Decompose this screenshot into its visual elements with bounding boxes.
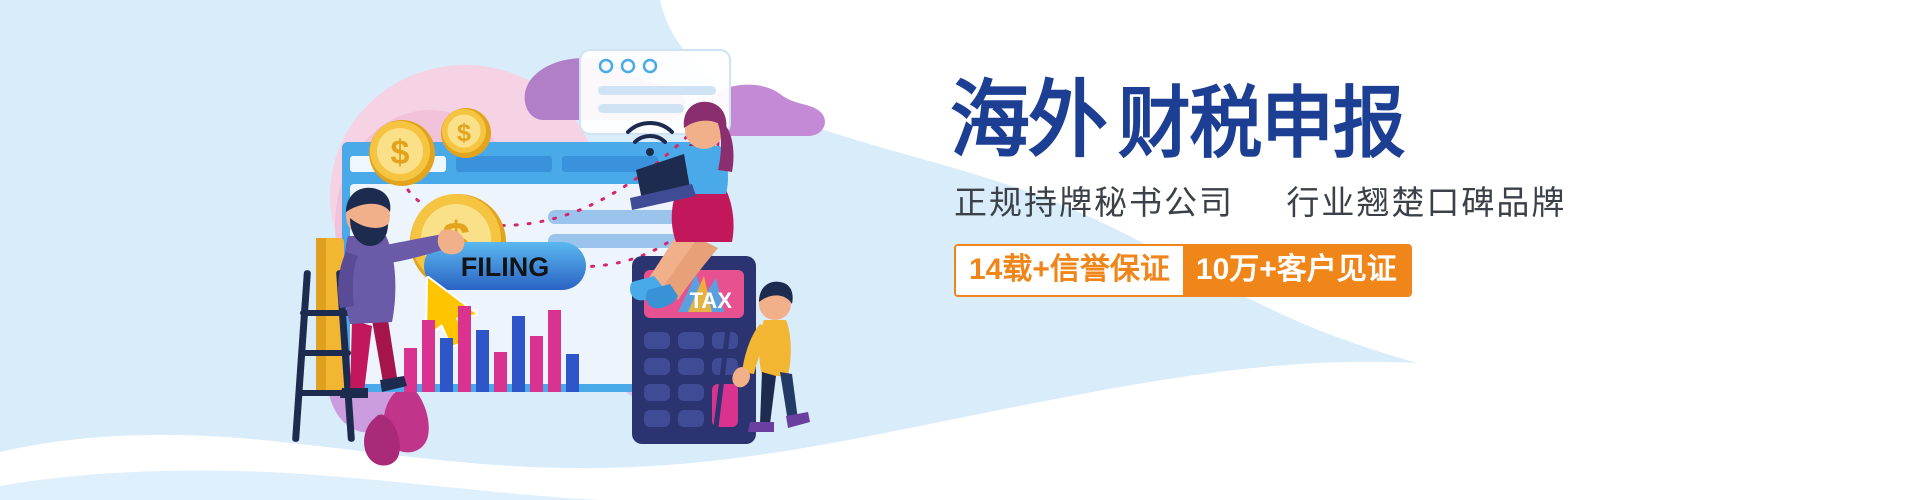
subheadline-left: 正规持牌秘书公司 — [954, 184, 1234, 221]
svg-text:$: $ — [391, 134, 410, 172]
badge-customers: 10万+客户见证 — [1183, 246, 1410, 295]
coin-medium: $ — [369, 120, 435, 186]
badge-experience: 14载+信誉保证 — [956, 246, 1183, 295]
copy-block: 海外 财税申报 正规持牌秘书公司 行业翘楚口碑品牌 14载+信誉保证 10万+客… — [950, 78, 1570, 297]
subheadline-right: 行业翘楚口碑品牌 — [1286, 184, 1566, 221]
calculator-label: TAX — [690, 288, 733, 313]
headline-part2: 财税申报 — [1118, 84, 1404, 162]
svg-text:$: $ — [457, 119, 471, 147]
promo-banner: $ $ $ FILING — [0, 0, 1920, 500]
tax-filing-illustration: $ $ $ FILING — [280, 20, 840, 480]
headline-part1: 海外 — [950, 78, 1106, 162]
filing-button-label: FILING — [461, 252, 550, 282]
headline: 海外 财税申报 — [950, 78, 1570, 162]
subheadline: 正规持牌秘书公司 行业翘楚口碑品牌 — [954, 176, 1570, 224]
coin-small: $ — [441, 108, 491, 158]
badge-group: 14载+信誉保证 10万+客户见证 — [954, 244, 1412, 297]
